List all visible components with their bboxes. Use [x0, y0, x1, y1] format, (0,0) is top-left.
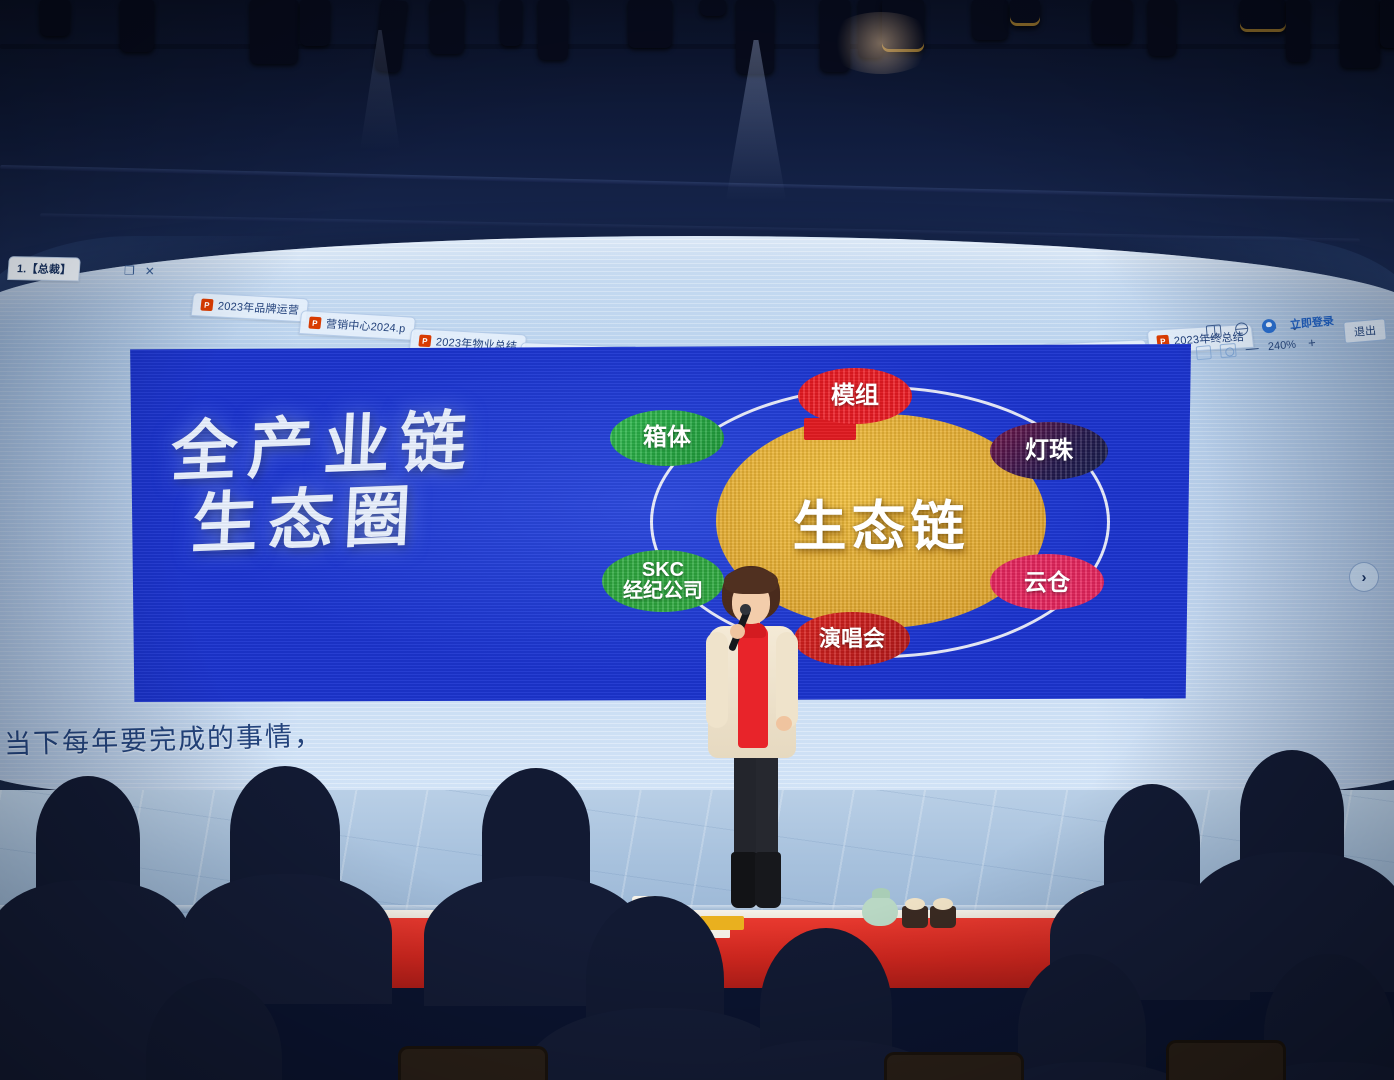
truss-bar-main	[0, 165, 1394, 203]
chair-back	[884, 1052, 1024, 1080]
zoom-out-button[interactable]: —	[1244, 340, 1259, 356]
page-view-icon[interactable]	[1196, 345, 1212, 360]
ecosystem-diagram: 生态链 模组 灯珠 云仓 演唱会 SKC 经纪公司 箱体	[598, 360, 1168, 690]
stage-light	[120, 0, 154, 52]
presentation-slide[interactable]: 全产业链 生态圈 生态链 模组 灯珠 云仓 演唱会 SKC 经纪公司	[128, 344, 1191, 702]
zoom-level-label: 240%	[1267, 338, 1296, 352]
slide-headline: 全产业链 生态圈	[166, 402, 594, 561]
restore-icon[interactable]: ❐	[124, 263, 135, 277]
zoom-in-button[interactable]: +	[1304, 335, 1319, 351]
tab-label: 1.【总裁】	[16, 260, 72, 277]
tab-item-2[interactable]: P 营销中心2024.p	[299, 310, 416, 341]
stage-light	[1286, 0, 1310, 62]
reading-mode-icon[interactable]	[1206, 324, 1222, 338]
node-cloud-warehouse: 云仓	[990, 554, 1104, 610]
stage-light	[628, 0, 672, 48]
node-concert: 演唱会	[794, 612, 910, 666]
tab-label: 2023年品牌运营	[217, 297, 300, 317]
globe-icon[interactable]	[1235, 321, 1249, 335]
stage-light	[538, 0, 568, 60]
stage-light	[1010, 0, 1040, 26]
fit-screen-icon[interactable]	[1220, 342, 1237, 357]
chair-back	[1166, 1040, 1286, 1080]
stage-light	[430, 0, 464, 54]
node-label: 云仓	[1024, 570, 1070, 594]
headline-line-2: 生态圈	[190, 475, 590, 559]
powerpoint-icon: P	[418, 335, 431, 348]
stage-light	[700, 0, 726, 16]
stage-light	[1092, 0, 1132, 44]
stage-light	[500, 0, 522, 46]
stage-light	[40, 0, 70, 36]
tab-label: 营销中心2024.p	[325, 316, 406, 337]
stage-light	[300, 0, 330, 46]
tab-item-0[interactable]: 1.【总裁】	[7, 256, 81, 281]
stage-light	[1340, 0, 1380, 68]
chair-back	[398, 1046, 548, 1080]
node-label: SKC 经纪公司	[623, 560, 703, 602]
node-label: 箱体	[643, 425, 691, 450]
browser-tab-strip: 1.【总裁】 ❐ ✕ P 2023年品牌运营 P 营销中心2024.p P 20…	[0, 262, 1394, 358]
powerpoint-icon: P	[308, 317, 321, 330]
avatar[interactable]	[1261, 319, 1276, 334]
light-beam	[726, 40, 786, 200]
node-label: 灯珠	[1025, 438, 1073, 463]
node-label: 模组	[831, 383, 879, 408]
audience-shoulders	[0, 880, 190, 1000]
stage-light	[1380, 0, 1394, 48]
stage-light	[250, 0, 298, 64]
close-icon[interactable]: ✕	[145, 264, 156, 278]
audience-row	[0, 740, 1394, 1080]
ceiling-glow	[826, 12, 936, 74]
truss-rail-upper	[0, 44, 1394, 49]
tab-window-controls[interactable]: ❐ ✕	[124, 263, 155, 278]
stage-light	[972, 0, 1008, 40]
core-label: 生态链	[793, 482, 970, 561]
exit-button[interactable]: 退出	[1343, 318, 1387, 344]
powerpoint-icon: P	[200, 299, 213, 312]
tab-item-1[interactable]: P 2023年品牌运营	[191, 292, 310, 322]
presentation-stage-photo: 1.【总裁】 ❐ ✕ P 2023年品牌运营 P 营销中心2024.p P 20…	[0, 0, 1394, 1080]
stage-light	[1148, 0, 1176, 56]
stage-light	[1240, 0, 1286, 32]
node-led-beads: 灯珠	[990, 422, 1108, 480]
node-module: 模组	[798, 368, 912, 424]
node-cabinet: 箱体	[610, 410, 724, 466]
headline-line-1: 全产业链	[170, 402, 594, 487]
next-slide-button[interactable]: ›	[1349, 562, 1379, 592]
node-label: 演唱会	[819, 627, 885, 650]
